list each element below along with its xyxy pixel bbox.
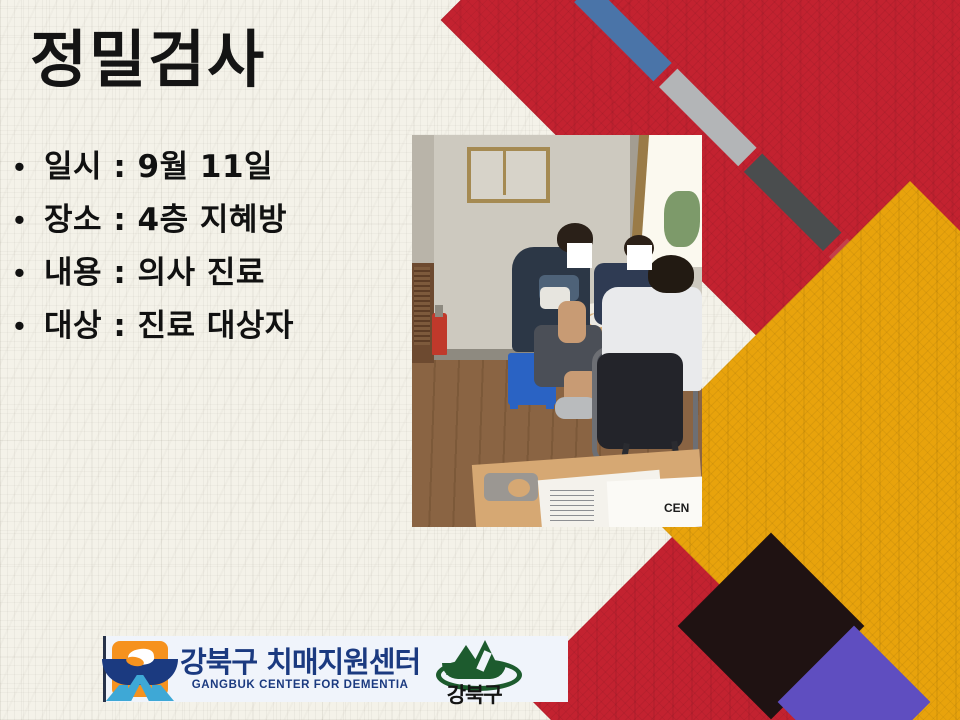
list-item: • 장소 : 4층 지혜방 — [10, 198, 400, 242]
logo-text-block: 강북구 치매지원센터 GANGBUK CENTER FOR DEMENTIA — [180, 647, 420, 691]
photo-foliage — [664, 191, 700, 247]
photo-person-left-arm — [558, 301, 586, 343]
photo-stool-leg — [510, 381, 518, 409]
stripe-segment-dark-gray — [744, 153, 842, 251]
photo-fire-extinguisher-top — [435, 305, 443, 317]
district-emblem: 강북구 — [428, 639, 520, 699]
presentation-slide: 정밀검사 • 일시 : 9월 11일 • 장소 : 4층 지혜방 • 내용 : … — [0, 0, 960, 720]
mountain-base-icon — [442, 663, 506, 679]
list-item-label: 장소 : 4층 지혜방 — [44, 198, 287, 242]
bullet-marker-icon: • — [10, 304, 44, 348]
list-item: • 일시 : 9월 11일 — [10, 145, 400, 189]
photo-wall-frame — [467, 147, 550, 203]
person-arm-right-icon — [152, 685, 174, 701]
photo-person-left-shoe — [555, 397, 597, 419]
consultation-photo: CEN — [412, 135, 702, 527]
logo-english-name: GANGBUK CENTER FOR DEMENTIA — [180, 679, 420, 691]
slide-title: 정밀검사 — [30, 26, 266, 94]
organization-logo: 강북구 치매지원센터 GANGBUK CENTER FOR DEMENTIA 강… — [103, 636, 568, 702]
dark-square-shape — [678, 533, 865, 720]
photo-document-label: CEN — [664, 501, 702, 523]
photo-office-chair — [597, 353, 683, 449]
photo-fire-extinguisher — [432, 313, 447, 355]
bullet-marker-icon: • — [10, 198, 44, 242]
photo-face-blur-1 — [567, 243, 592, 268]
list-item: • 대상 : 진료 대상자 — [10, 304, 400, 348]
district-name: 강북구 — [428, 679, 520, 709]
stripe-segment-red — [829, 238, 927, 336]
bullet-marker-icon: • — [10, 145, 44, 189]
person-arm-left-icon — [106, 685, 128, 701]
stripe-segment-yellow — [914, 323, 960, 419]
photo-cabinet-grill — [414, 267, 430, 345]
photo-wall-frame-divider — [503, 147, 506, 195]
purple-square-shape — [778, 626, 931, 720]
stripe-segment-blue — [574, 0, 672, 81]
photo-face-blur-2 — [627, 245, 652, 270]
center-symbol-icon — [112, 641, 168, 697]
list-item: • 내용 : 의사 진료 — [10, 251, 400, 295]
photo-desk-tray-hole — [508, 479, 530, 497]
logo-korean-name: 강북구 치매지원센터 — [180, 647, 420, 677]
list-item-label: 내용 : 의사 진료 — [44, 251, 265, 295]
list-item-label: 대상 : 진료 대상자 — [44, 304, 294, 348]
photo-person-right-head — [648, 255, 694, 293]
bullet-list: • 일시 : 9월 11일 • 장소 : 4층 지혜방 • 내용 : 의사 진료… — [10, 145, 400, 357]
bullet-marker-icon: • — [10, 251, 44, 295]
photo-document-text-lines — [550, 487, 594, 521]
list-item-label: 일시 : 9월 11일 — [44, 145, 273, 189]
